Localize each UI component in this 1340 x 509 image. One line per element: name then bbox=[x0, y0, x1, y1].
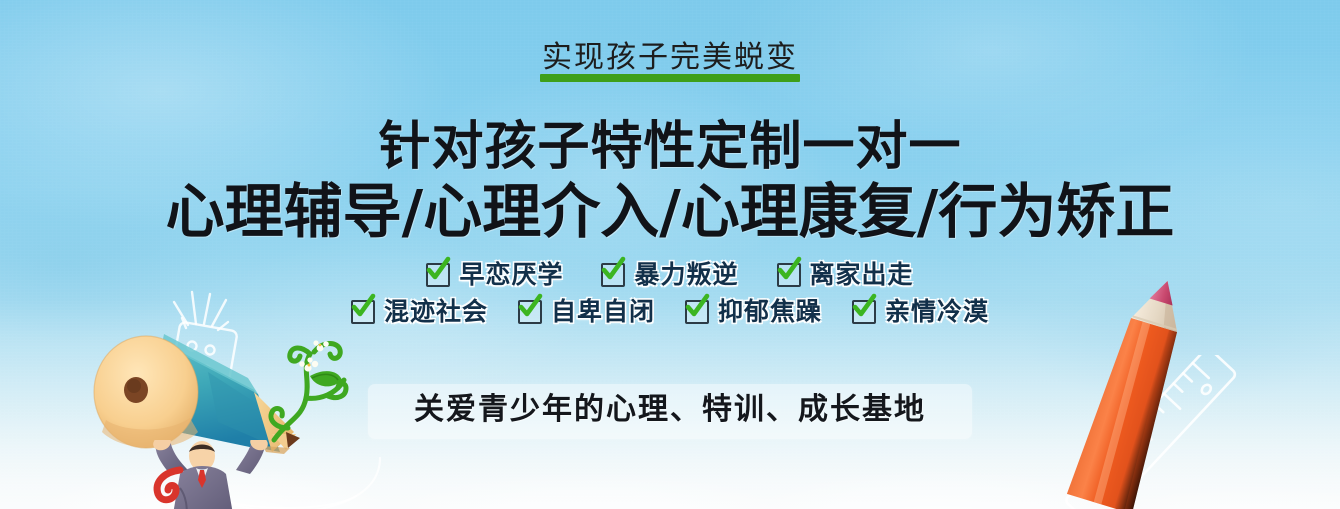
tag-item: 亲情冷漠 bbox=[850, 299, 991, 324]
tag-item: 早恋厌学 bbox=[424, 262, 565, 287]
tag-label: 离家出走 bbox=[810, 262, 914, 287]
check-box-icon bbox=[351, 300, 375, 324]
tag-item: 自卑自闭 bbox=[516, 299, 657, 324]
eyebrow-text: 实现孩子完美蜕变 bbox=[538, 41, 802, 82]
banner-content: 实现孩子完美蜕变 针对孩子特性定制一对一 心理辅导/心理介入/心理康复/行为矫正… bbox=[0, 0, 1340, 509]
tag-label: 暴力叛逆 bbox=[634, 262, 738, 287]
headline-line-2: 心理辅导/心理介入/心理康复/行为矫正 bbox=[0, 181, 1340, 242]
tag-label: 早恋厌学 bbox=[459, 262, 563, 287]
footer-plaque-wrap: 关爱青少年的心理、特训、成长基地 bbox=[0, 384, 1340, 439]
problem-tag-list: 早恋厌学 暴力叛逆 离家出走 bbox=[0, 262, 1340, 324]
check-box-icon bbox=[601, 263, 625, 287]
tag-label: 自卑自闭 bbox=[551, 299, 655, 324]
check-box-icon bbox=[426, 263, 450, 287]
tag-label: 亲情冷漠 bbox=[885, 299, 989, 324]
tag-item: 离家出走 bbox=[775, 262, 916, 287]
headline-line-1: 针对孩子特性定制一对一 bbox=[0, 120, 1340, 174]
tag-item: 混迹社会 bbox=[349, 299, 490, 324]
tag-row-1: 早恋厌学 暴力叛逆 离家出走 bbox=[0, 262, 1340, 287]
check-box-icon bbox=[777, 263, 801, 287]
tag-label: 混迹社会 bbox=[384, 299, 488, 324]
page-title: 针对孩子特性定制一对一 心理辅导/心理介入/心理康复/行为矫正 bbox=[0, 120, 1340, 241]
tag-item: 暴力叛逆 bbox=[599, 262, 740, 287]
check-box-icon bbox=[685, 300, 709, 324]
footer-plaque: 关爱青少年的心理、特训、成长基地 bbox=[368, 384, 972, 439]
tag-row-2: 混迹社会 自卑自闭 抑郁焦躁 bbox=[0, 299, 1340, 324]
tag-label: 抑郁焦躁 bbox=[718, 299, 822, 324]
promo-banner: 实现孩子完美蜕变 针对孩子特性定制一对一 心理辅导/心理介入/心理康复/行为矫正… bbox=[0, 0, 1340, 509]
check-box-icon bbox=[852, 300, 876, 324]
eyebrow-wrap: 实现孩子完美蜕变 bbox=[0, 41, 1340, 82]
footer-text: 关爱青少年的心理、特训、成长基地 bbox=[414, 392, 926, 427]
check-box-icon bbox=[518, 300, 542, 324]
tag-item: 抑郁焦躁 bbox=[683, 299, 824, 324]
